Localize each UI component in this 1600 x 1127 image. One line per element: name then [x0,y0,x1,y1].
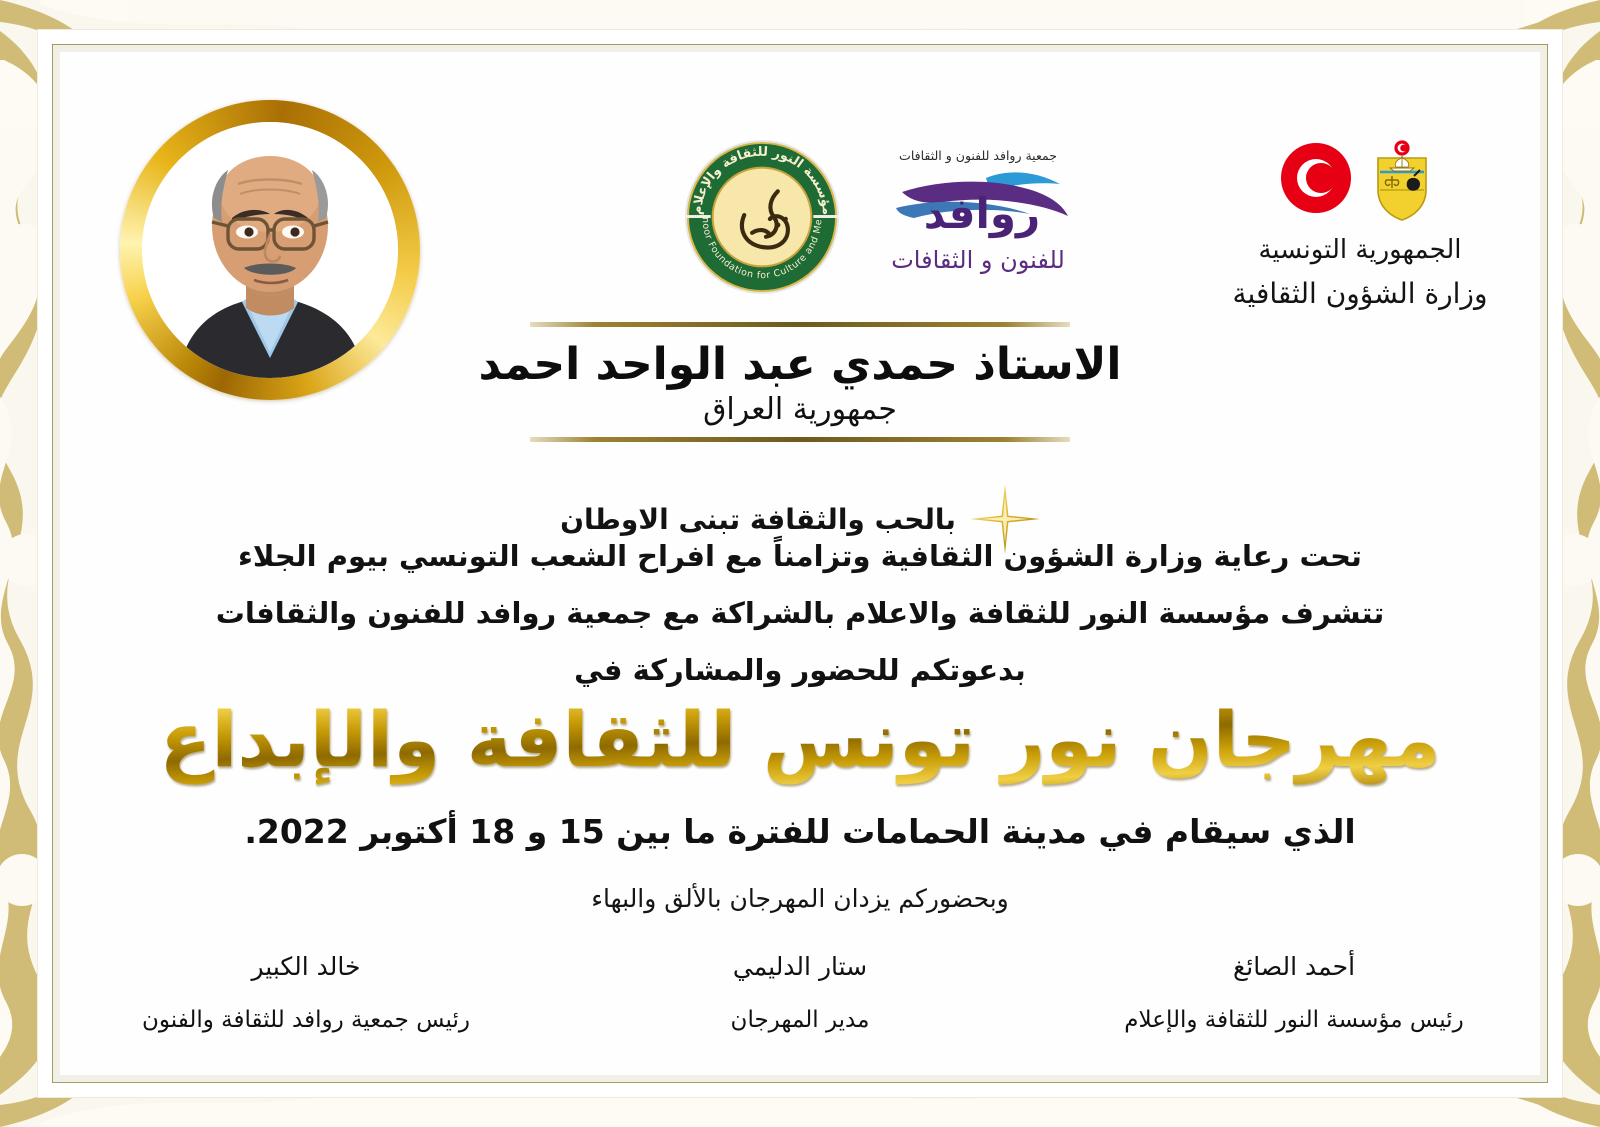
body-line-3: بدعوتكم للحضور والمشاركة في [60,653,1540,687]
body-line-2: تتشرف مؤسسة النور للثقافة والاعلام بالشر… [60,596,1540,630]
rawafid-association-logo: جمعية روافد للفنون و الثقافات روافد للفن… [878,144,1078,294]
festival-title: مهرجان نور تونس للثقافة والإبداع [60,692,1540,787]
signatures-row: أحمد الصائغ رئيس مؤسسة النور للثقافة وال… [60,952,1540,1033]
tunisia-official-block: الجمهورية التونسية وزارة الشؤون الثقافية [1215,140,1505,370]
honoree-country: جمهورية العراق [460,392,1140,437]
signature-title: رئيس مؤسسة النور للثقافة والإعلام [1084,1007,1504,1033]
certificate-canvas: مؤسسة النور للثقافة والإعلام Al-noor Fou… [0,0,1600,1127]
tunisia-flag-icon [1280,142,1352,214]
signature-title: مدير المهرجان [650,1007,950,1033]
ministry-line-2: وزارة الشؤون الثقافية [1215,274,1505,315]
festival-date-line: الذي سيقام في مدينة الحمامات للفترة ما ب… [60,812,1540,851]
honoree-block: الاستاذ حمدي عبد الواحد احمد جمهورية الع… [460,322,1140,442]
divider-bottom [530,437,1070,442]
svg-text:للفنون و الثقافات: للفنون و الثقافات [891,246,1065,274]
signature-name: ستار الدليمي [650,952,950,981]
ministry-line-1: الجمهورية التونسية [1215,232,1505,270]
body-line-1: تحت رعاية وزارة الشؤون الثقافية وتزامناً… [60,539,1540,573]
honoree-photo [142,122,398,378]
slogan-text: بالحب والثقافة تبنى الاوطان [560,503,956,536]
signature-rawafid-president: خالد الكبير رئيس جمعية روافد للثقافة وال… [96,952,516,1033]
signature-title: رئيس جمعية روافد للثقافة والفنون [96,1007,516,1033]
content-area: مؤسسة النور للثقافة والإعلام Al-noor Fou… [60,52,1540,1075]
signature-festival-director: ستار الدليمي مدير المهرجان [650,952,950,1033]
svg-text:روافد: روافد [924,189,1040,239]
signature-name: خالد الكبير [96,952,516,981]
noor-foundation-logo: مؤسسة النور للثقافة والإعلام Al-noor Fou… [683,138,841,296]
signature-name: أحمد الصائغ [1084,952,1504,981]
signature-noor-president: أحمد الصائغ رئيس مؤسسة النور للثقافة وال… [1084,952,1504,1033]
avatar [120,100,420,400]
tunisia-coat-of-arms-icon [1370,140,1434,222]
svg-text:جمعية روافد للفنون و الثقافات: جمعية روافد للفنون و الثقافات [899,148,1057,164]
wish-line: وبحضوركم يزدان المهرجان بالألق والبهاء [60,884,1540,913]
ministry-text: الجمهورية التونسية وزارة الشؤون الثقافية [1215,232,1505,314]
honoree-name: الاستاذ حمدي عبد الواحد احمد [460,327,1140,392]
